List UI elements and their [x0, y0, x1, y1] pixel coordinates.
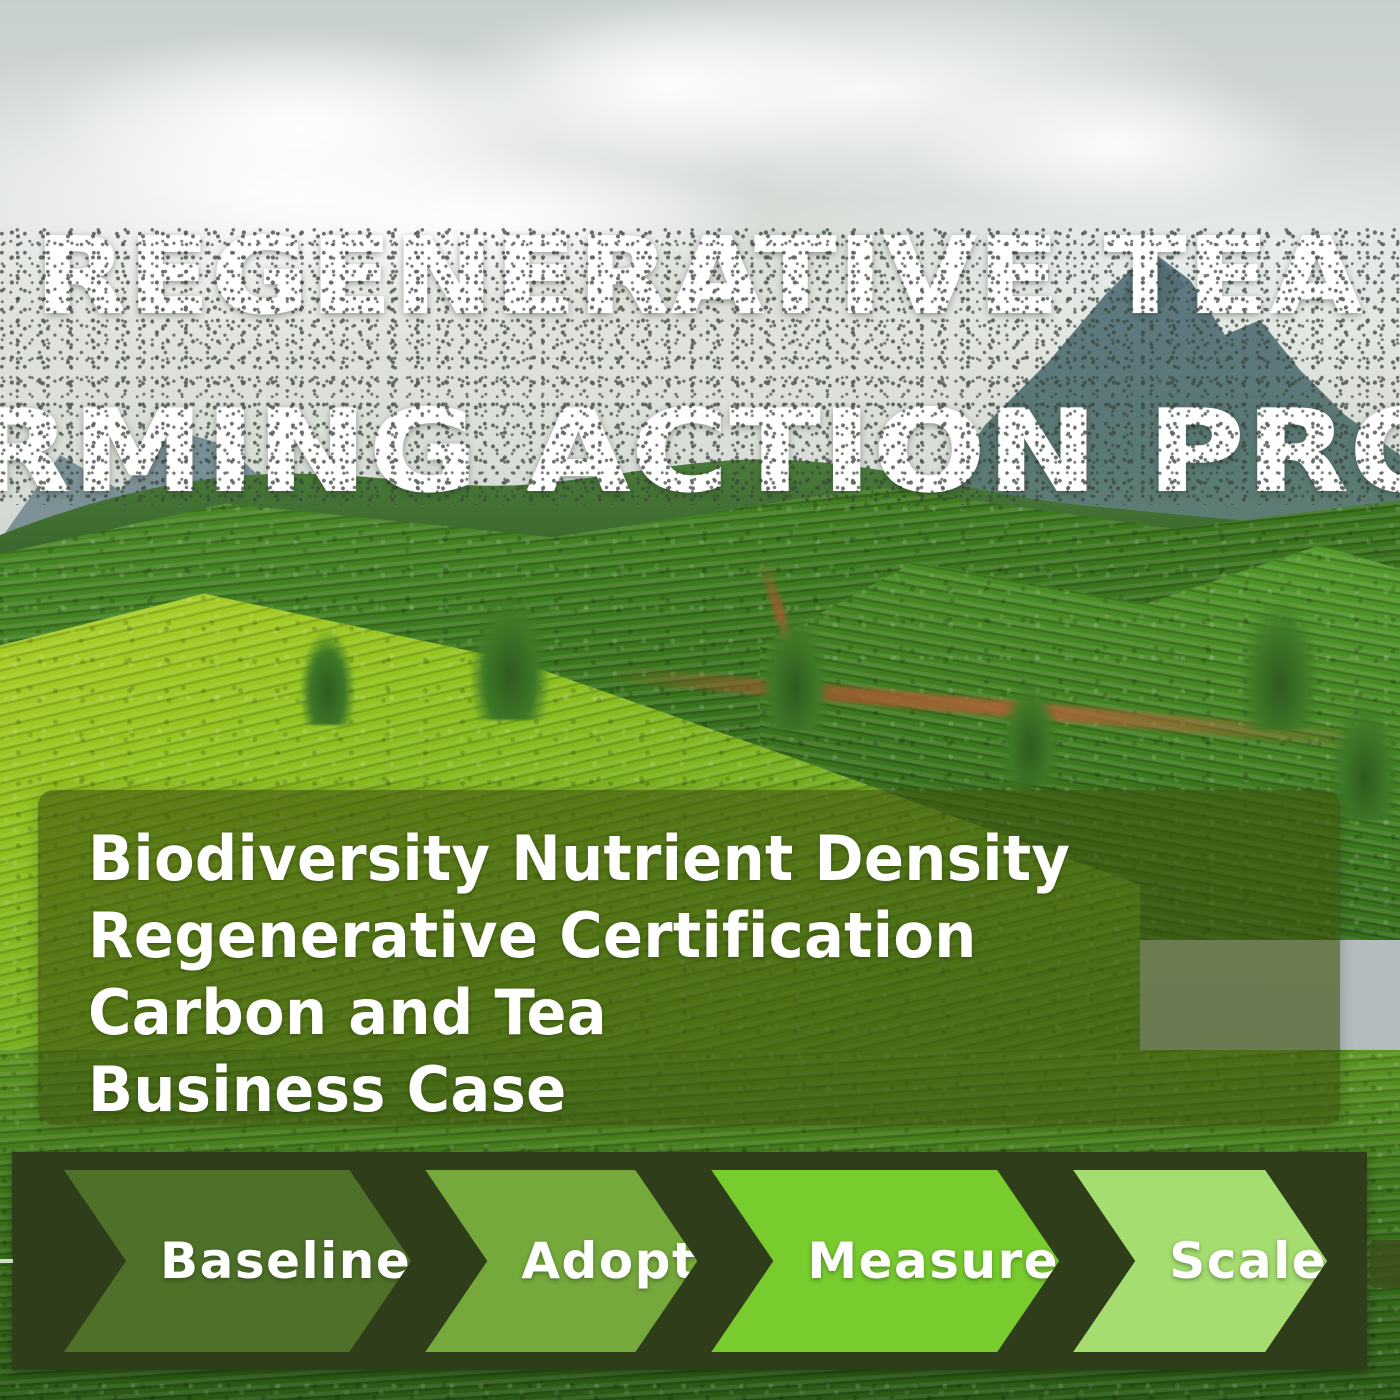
process-step-baseline[interactable]: Baseline: [64, 1170, 411, 1352]
process-step-label: Measure: [807, 1232, 1059, 1290]
process-step-list: Baseline Adopt Measure Scale: [64, 1170, 1324, 1352]
poster-canvas: Regenerative Tea Farming Action Project …: [0, 0, 1400, 1400]
title-line-2: Farming Action Project: [0, 400, 1400, 505]
title-line-1: Regenerative Tea: [0, 228, 1400, 326]
topic-line: Regenerative Certification: [88, 897, 1400, 974]
topics-panel: Biodiversity Nutrient Density Regenerati…: [38, 790, 1340, 1125]
process-step-label: Baseline: [160, 1232, 411, 1290]
topic-line: Biodiversity Nutrient Density: [88, 820, 1400, 897]
process-step-adopt[interactable]: Adopt: [425, 1170, 697, 1352]
process-step-label: Adopt: [521, 1232, 697, 1290]
poster-title: Regenerative Tea Farming Action Project: [0, 228, 1400, 505]
process-step-label: Scale: [1169, 1232, 1327, 1290]
topic-line: Carbon and Tea: [88, 974, 1400, 1051]
right-edge-tab[interactable]: [1370, 1240, 1400, 1288]
process-bar: Baseline Adopt Measure Scale: [12, 1152, 1367, 1370]
topic-line: Business Case: [88, 1051, 1400, 1128]
process-step-scale[interactable]: Scale: [1073, 1170, 1327, 1352]
left-edge-tick: [0, 1259, 13, 1263]
process-step-measure[interactable]: Measure: [711, 1170, 1059, 1352]
